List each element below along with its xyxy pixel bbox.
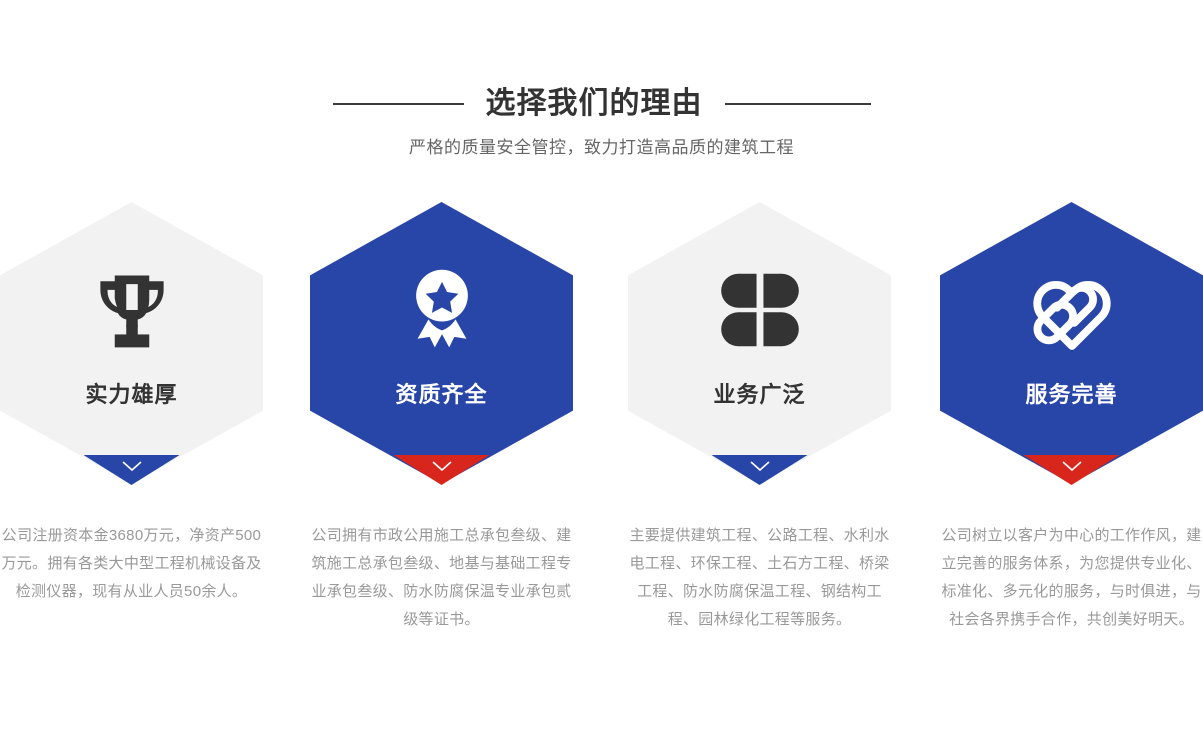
feature-card-list: 实力雄厚 公司注册资本金3680万元，净资产500万元。拥有各类大中型工程机械设…: [0, 202, 1203, 672]
page-subtitle: 严格的质量安全管控，致力打造高品质的建筑工程: [0, 134, 1203, 162]
card-arrow-tab: [1024, 455, 1120, 485]
feature-card[interactable]: 服务完善 公司树立以客户为中心的工作作风，建立完善的服务体系，为您提供专业化、标…: [940, 202, 1203, 672]
feature-card-label: 资质齐全: [310, 380, 573, 410]
feature-card-description: 公司注册资本金3680万元，净资产500万元。拥有各类大中型工程机械设备及检测仪…: [0, 522, 263, 606]
title-rule-right-decoration: [725, 103, 871, 105]
feature-card-label: 业务广泛: [628, 380, 891, 410]
hexagon-badge[interactable]: 业务广泛: [628, 202, 891, 484]
medal-star-icon: [390, 258, 494, 362]
feature-card-label: 实力雄厚: [0, 380, 263, 410]
hexagon-badge[interactable]: 资质齐全: [310, 202, 573, 484]
four-petal-clover-icon: [708, 258, 812, 362]
feature-card-description: 主要提供建筑工程、公路工程、水利水电工程、环保工程、土石方工程、桥梁工程、防水防…: [628, 522, 891, 634]
interlocked-heart-hands-icon: [1020, 258, 1124, 362]
hexagon-badge[interactable]: 实力雄厚: [0, 202, 263, 484]
feature-card-description: 公司拥有市政公用施工总承包叁级、建筑施工总承包叁级、地基与基础工程专业承包叁级、…: [310, 522, 573, 634]
card-arrow-tab: [84, 455, 180, 485]
feature-card-label: 服务完善: [940, 380, 1203, 410]
feature-card[interactable]: 业务广泛 主要提供建筑工程、公路工程、水利水电工程、环保工程、土石方工程、桥梁工…: [628, 202, 891, 672]
feature-card[interactable]: 实力雄厚 公司注册资本金3680万元，净资产500万元。拥有各类大中型工程机械设…: [0, 202, 263, 672]
title-rule-left-decoration: [333, 103, 464, 105]
feature-card-description: 公司树立以客户为中心的工作作风，建立完善的服务体系，为您提供专业化、标准化、多元…: [940, 522, 1203, 634]
hexagon-badge[interactable]: 服务完善: [940, 202, 1203, 484]
page-title: 选择我们的理由: [486, 84, 703, 124]
card-arrow-tab: [712, 455, 808, 485]
feature-card[interactable]: 资质齐全 公司拥有市政公用施工总承包叁级、建筑施工总承包叁级、地基与基础工程专业…: [310, 202, 573, 672]
trophy-icon: [80, 258, 184, 362]
card-arrow-tab: [394, 455, 490, 485]
title-row: 选择我们的理由: [0, 84, 1203, 124]
